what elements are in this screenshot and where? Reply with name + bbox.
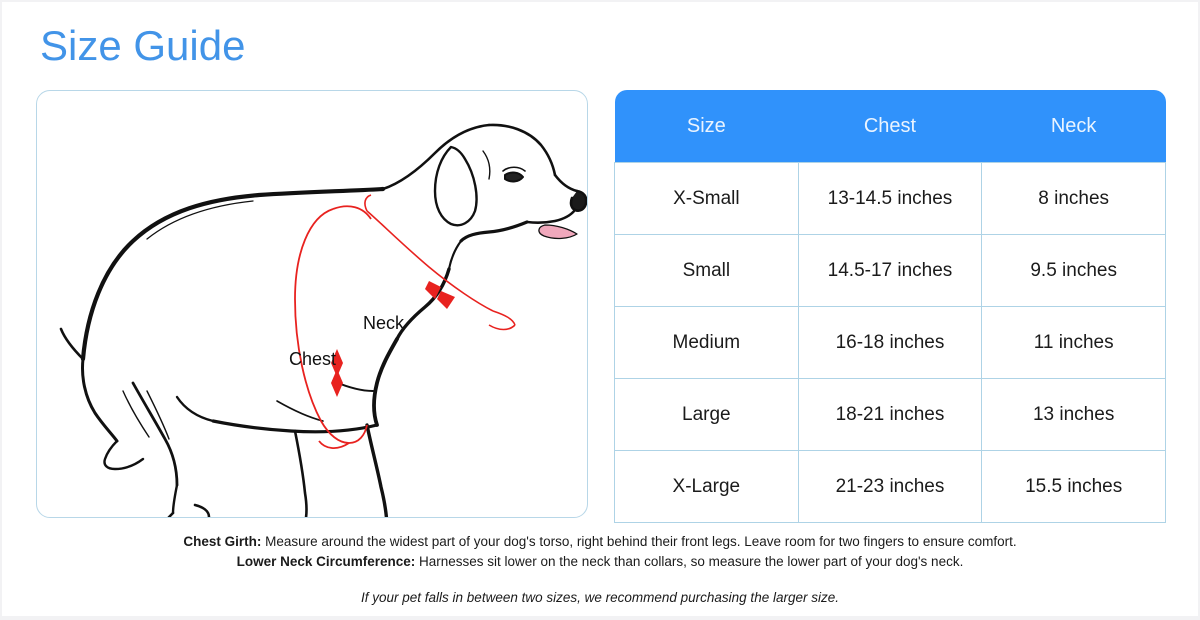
- dog-side-profile-line-drawing: [37, 91, 588, 518]
- cell-chest: 16-18 inches: [798, 307, 982, 379]
- column-header-chest: Chest: [798, 90, 982, 163]
- cell-size: Large: [615, 379, 799, 451]
- table-row: Large 18-21 inches 13 inches: [615, 379, 1166, 451]
- footer-instructions: Chest Girth: Measure around the widest p…: [2, 532, 1198, 608]
- table-row: Small 14.5-17 inches 9.5 inches: [615, 235, 1166, 307]
- chest-measurement-label: Chest: [289, 349, 336, 370]
- neck-circumference-text: Harnesses sit lower on the neck than col…: [415, 554, 963, 569]
- size-guide-page: Size Guide: [2, 2, 1198, 616]
- sizing-recommendation-note: If your pet falls in between two sizes, …: [2, 588, 1198, 608]
- cell-neck: 9.5 inches: [982, 235, 1166, 307]
- column-header-size: Size: [615, 90, 799, 163]
- size-chart-table: Size Chest Neck X-Small 13-14.5 inches 8…: [614, 90, 1166, 523]
- cell-chest: 21-23 inches: [798, 451, 982, 523]
- table-row: Medium 16-18 inches 11 inches: [615, 307, 1166, 379]
- cell-size: Medium: [615, 307, 799, 379]
- cell-neck: 15.5 inches: [982, 451, 1166, 523]
- cell-chest: 13-14.5 inches: [798, 163, 982, 235]
- page-title: Size Guide: [40, 20, 245, 72]
- table-row: X-Large 21-23 inches 15.5 inches: [615, 451, 1166, 523]
- table-header-row: Size Chest Neck: [615, 90, 1166, 163]
- cell-size: Small: [615, 235, 799, 307]
- cell-neck: 11 inches: [982, 307, 1166, 379]
- column-header-neck: Neck: [982, 90, 1166, 163]
- neck-circumference-label: Lower Neck Circumference:: [237, 554, 416, 569]
- chest-girth-instruction: Chest Girth: Measure around the widest p…: [2, 532, 1198, 552]
- cell-neck: 13 inches: [982, 379, 1166, 451]
- chest-girth-label: Chest Girth:: [183, 534, 261, 549]
- table-row: X-Small 13-14.5 inches 8 inches: [615, 163, 1166, 235]
- cell-neck: 8 inches: [982, 163, 1166, 235]
- neck-measurement-label: Neck: [363, 313, 404, 334]
- table-body: X-Small 13-14.5 inches 8 inches Small 14…: [615, 163, 1166, 523]
- table-header: Size Chest Neck: [615, 90, 1166, 163]
- cell-chest: 18-21 inches: [798, 379, 982, 451]
- cell-size: X-Large: [615, 451, 799, 523]
- dog-illustration-card: Neck Chest: [36, 90, 588, 518]
- cell-size: X-Small: [615, 163, 799, 235]
- neck-circumference-instruction: Lower Neck Circumference: Harnesses sit …: [2, 552, 1198, 572]
- chest-girth-text: Measure around the widest part of your d…: [261, 534, 1016, 549]
- cell-chest: 14.5-17 inches: [798, 235, 982, 307]
